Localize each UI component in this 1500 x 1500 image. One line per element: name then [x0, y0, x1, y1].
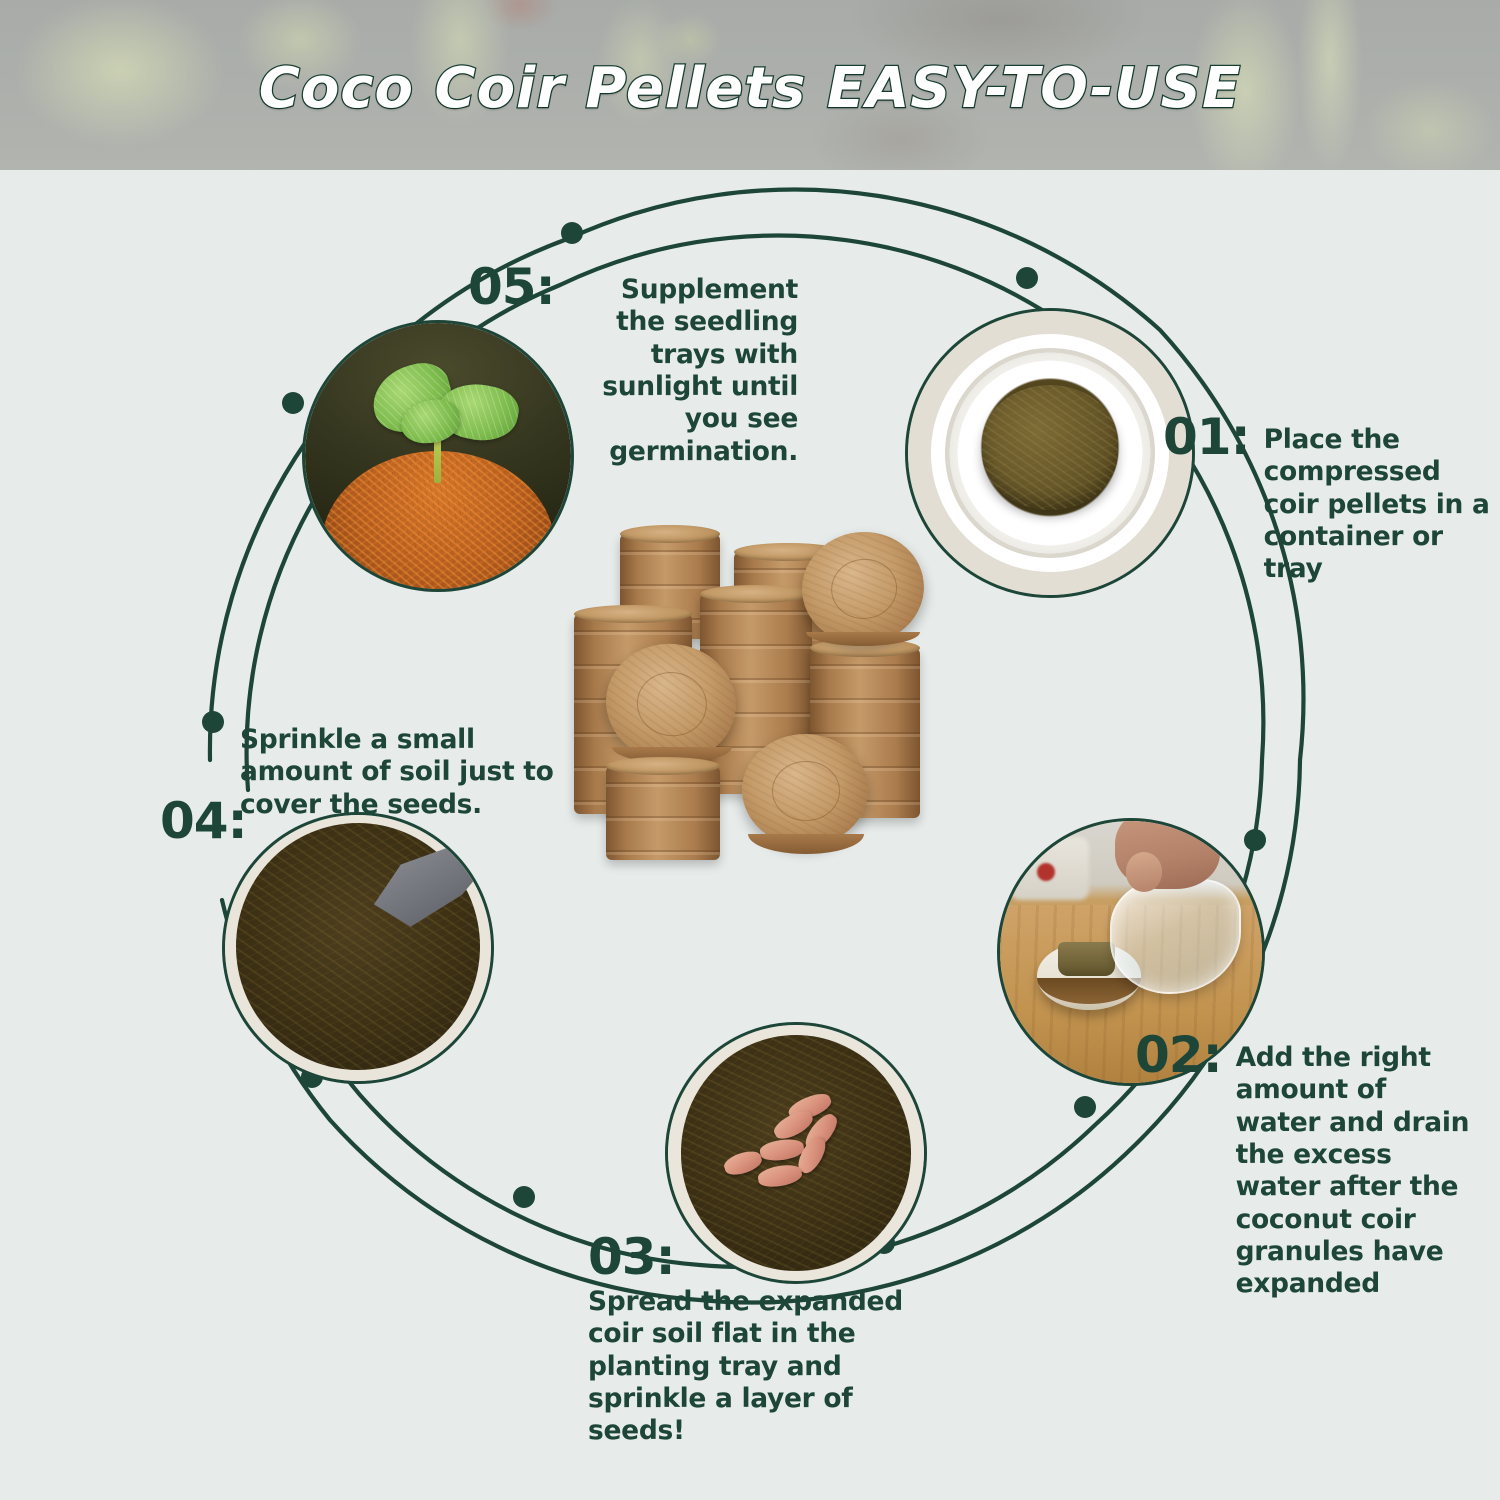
arc-node-right [1244, 829, 1266, 851]
step-04-body: Sprinkle a small amount of soil just to … [240, 724, 560, 821]
arc-node-bottom-right [1074, 1096, 1096, 1118]
page-title: Coco Coir Pellets EASY-TO-USE [0, 56, 1500, 121]
step-03-text-block: 03: Spread the expanded coir soil flat i… [588, 1232, 908, 1448]
step-02-body: Add the right amount of water and drain … [1236, 1042, 1475, 1301]
step-05-number: 05: [468, 262, 555, 312]
pellet-stack-front-left [606, 766, 720, 860]
photo-step-04-trowel-soil [222, 812, 494, 1084]
step-02-text-block: 02: Add the right amount of water and dr… [1135, 1030, 1475, 1301]
finger [1126, 852, 1163, 891]
arc-node-top-right [1016, 267, 1038, 289]
step-05-text-block: 05: Supplement the seedling trays with s… [468, 262, 798, 468]
pellet-disc-edge [748, 834, 864, 854]
arc-node-bottom-left [513, 1186, 535, 1208]
compressed-coir-pellet [982, 385, 1118, 510]
step-04-number: 04: [160, 796, 247, 846]
pellet-in-dish [1058, 942, 1116, 976]
step-01-text-block: 01: Place the compressed coir pellets in… [1163, 412, 1493, 586]
pellet-disc-front-center [742, 734, 868, 846]
step-03-body: Spread the expanded coir soil flat in th… [588, 1286, 908, 1448]
center-coir-pellet-pile [562, 522, 942, 867]
arc-node-upper-left [282, 392, 304, 414]
header-banner: Coco Coir Pellets EASY-TO-USE [0, 0, 1500, 170]
infographic-root: Coco Coir Pellets EASY-TO-USE [0, 0, 1500, 1500]
step-05-body: Supplement the seedling trays with sunli… [569, 274, 798, 468]
photo-step-01-pellet-in-dish [905, 308, 1195, 598]
arc-node-top-left [561, 222, 583, 244]
step-03-number: 03: [588, 1232, 908, 1282]
arc-node-left-upper [202, 711, 224, 733]
step-01-number: 01: [1163, 412, 1250, 462]
step-02-number: 02: [1135, 1030, 1222, 1080]
step-01-body: Place the compressed coir pellets in a c… [1264, 424, 1493, 586]
